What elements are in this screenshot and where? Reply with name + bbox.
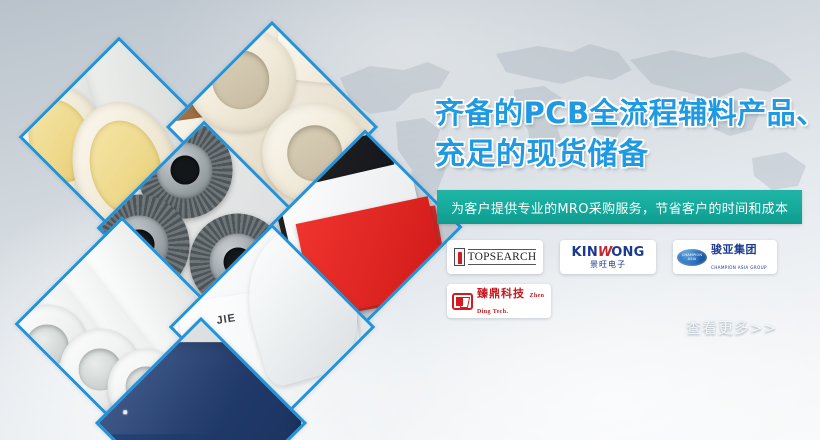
partner-logo-row-2: 臻鼎科技 Zhen Ding Tech. <box>447 284 807 318</box>
champion-asia-chinese-name: 骏亚集团 <box>711 243 757 256</box>
zhen-ding-chinese-name: 臻鼎科技 <box>477 287 525 300</box>
subtitle-bar: 为客户提供专业的MRO采购服务，节省客户的时间和成本 <box>437 190 802 224</box>
headline-line-1: 齐备的PCB全流程辅料产品、 <box>435 92 815 134</box>
headline: 齐备的PCB全流程辅料产品、 充足的现货储备 <box>435 92 815 176</box>
subtitle-text: 为客户提供专业的MRO采购服务，节省客户的时间和成本 <box>451 198 788 217</box>
headline-line-2: 充足的现货储备 <box>435 134 815 176</box>
partner-logo-champion-asia[interactable]: 骏亚集团 CHAMPION ASIA GROUP <box>673 240 777 274</box>
zhen-ding-badge-icon <box>452 293 473 310</box>
champion-asia-globe-icon <box>677 249 707 266</box>
partner-logo-kinwong[interactable]: KINWONG 景旺电子 <box>560 240 656 274</box>
partner-logo-zhen-ding[interactable]: 臻鼎科技 Zhen Ding Tech. <box>447 284 551 318</box>
kinwong-chinese-name: 景旺电子 <box>572 261 645 269</box>
view-more-link[interactable]: 查看更多>> <box>686 317 777 338</box>
topsearch-i-mark-icon <box>454 248 465 266</box>
partner-logo-topsearch[interactable]: TOPSEARCH <box>447 240 543 274</box>
topsearch-wordmark: TOPSEARCH <box>468 249 537 265</box>
partner-logo-row-1: TOPSEARCH KINWONG 景旺电子 骏亚集团 CHAMPION ASI <box>447 240 807 274</box>
kinwong-wordmark: KINWONG <box>572 246 645 259</box>
banner-content: 齐备的PCB全流程辅料产品、 充足的现货储备 为客户提供专业的MRO采购服务，节… <box>0 0 820 440</box>
champion-asia-latin-name: CHAMPION ASIA GROUP <box>711 265 767 270</box>
partner-logos: TOPSEARCH KINWONG 景旺电子 骏亚集团 CHAMPION ASI <box>447 240 807 328</box>
promo-banner: JIE 齐备的PCB全流程辅料产品、 充足的现货储备 为客户提供专业的MRO采购… <box>0 0 820 440</box>
